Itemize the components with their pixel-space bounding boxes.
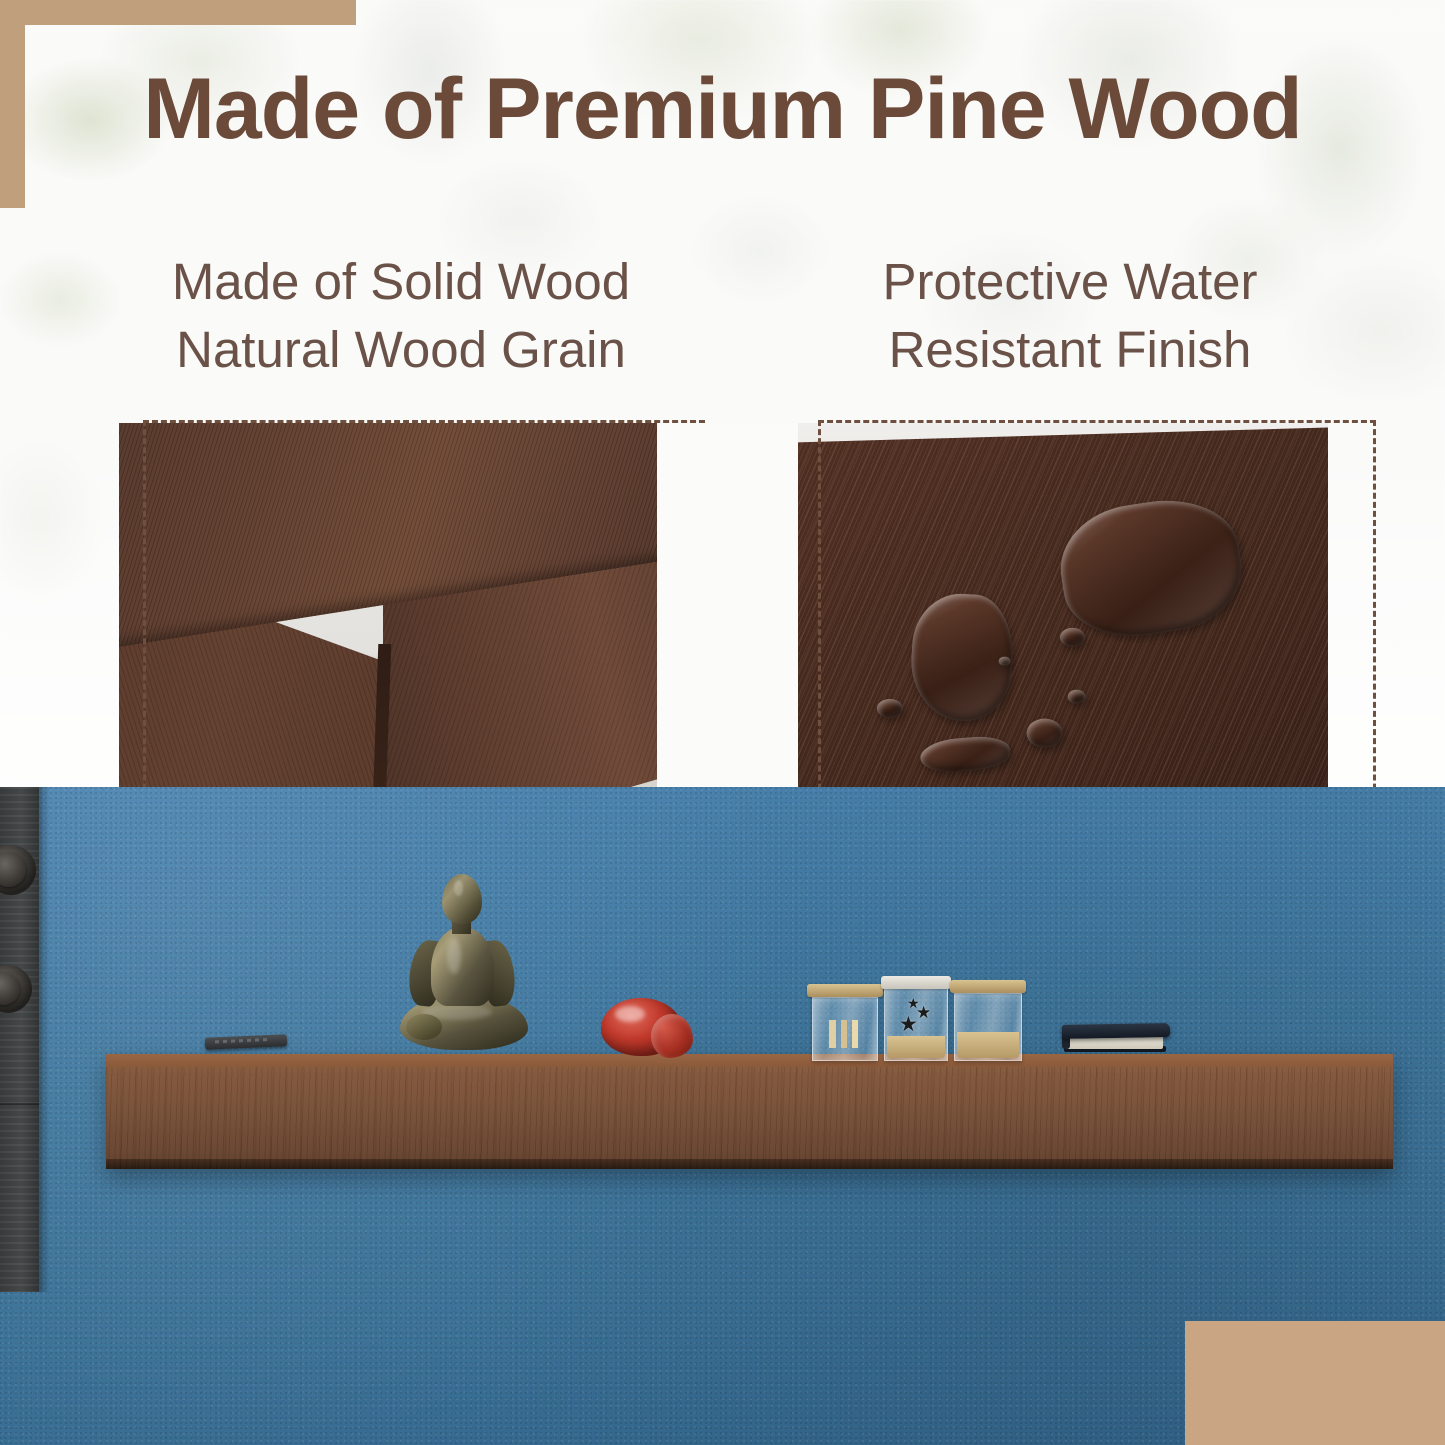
buddha-head — [442, 874, 482, 924]
corner-accent-top-horizontal — [0, 0, 356, 25]
door-panel — [0, 787, 39, 1292]
glass-jar-group: ★ ★ ★ — [812, 983, 1024, 1061]
shelf-bottom-bevel — [106, 1159, 1393, 1169]
photo-gutter — [657, 423, 798, 787]
door-shadow — [39, 787, 49, 1292]
water-drop-small-2 — [1060, 627, 1085, 647]
feature-heading-line-2: Resistant Finish — [760, 316, 1380, 384]
water-scene — [798, 423, 1328, 818]
product-feature-graphic: Made of Premium Pine Wood Made of Solid … — [0, 0, 1445, 1445]
feature-photo-water-resistant — [798, 423, 1328, 818]
corner-accent-bottom-right — [1185, 1321, 1445, 1445]
ornament-fold — [651, 1014, 693, 1058]
water-drop-small-5 — [999, 656, 1010, 665]
jar-sand-contents — [957, 1032, 1019, 1058]
shelf-top-surface — [106, 1054, 1393, 1067]
feature-photo-solid-wood — [119, 423, 657, 818]
water-drop-small-4 — [876, 698, 902, 718]
buddha-knee — [406, 1014, 442, 1040]
feature-heading-line-2: Natural Wood Grain — [96, 316, 706, 384]
wood-scene — [119, 423, 657, 818]
wood-board-surface — [798, 427, 1328, 818]
glass-jar-sand — [954, 993, 1022, 1061]
jar-lid — [807, 984, 883, 997]
feature-heading-solid-wood: Made of Solid Wood Natural Wood Grain — [96, 248, 706, 385]
buddha-figurine — [398, 874, 530, 1059]
star-icon: ★ — [899, 1014, 918, 1035]
water-drop-small-3 — [1067, 689, 1085, 703]
water-drop-elongated — [919, 734, 1011, 774]
jar-lid — [950, 980, 1026, 993]
buddha-torso — [431, 928, 494, 1006]
wood-corner-photo — [119, 423, 657, 818]
book-cover — [1062, 1023, 1170, 1039]
floating-wood-shelf — [106, 1054, 1393, 1169]
red-glass-ornament — [601, 998, 693, 1058]
water-bead-photo — [798, 423, 1328, 818]
jar-lid — [881, 976, 951, 989]
jar-candles-contents — [825, 1020, 865, 1048]
feature-heading-line-1: Made of Solid Wood — [96, 248, 706, 316]
glass-jar-stars: ★ ★ ★ — [884, 985, 948, 1061]
glass-jar-candles — [812, 997, 878, 1061]
water-drop-large — [1052, 489, 1249, 646]
feature-heading-line-1: Protective Water — [760, 248, 1380, 316]
door-seam — [0, 1103, 39, 1105]
star-icon: ★ — [907, 996, 920, 1010]
jar-stars-contents: ★ ★ ★ — [897, 1004, 937, 1038]
feature-heading-water-resistant: Protective Water Resistant Finish — [760, 248, 1380, 385]
jar-sand-base — [887, 1036, 945, 1058]
page-title: Made of Premium Pine Wood — [0, 64, 1445, 154]
hardcover-book — [1062, 1024, 1170, 1058]
water-drop-small-1 — [1026, 718, 1063, 748]
